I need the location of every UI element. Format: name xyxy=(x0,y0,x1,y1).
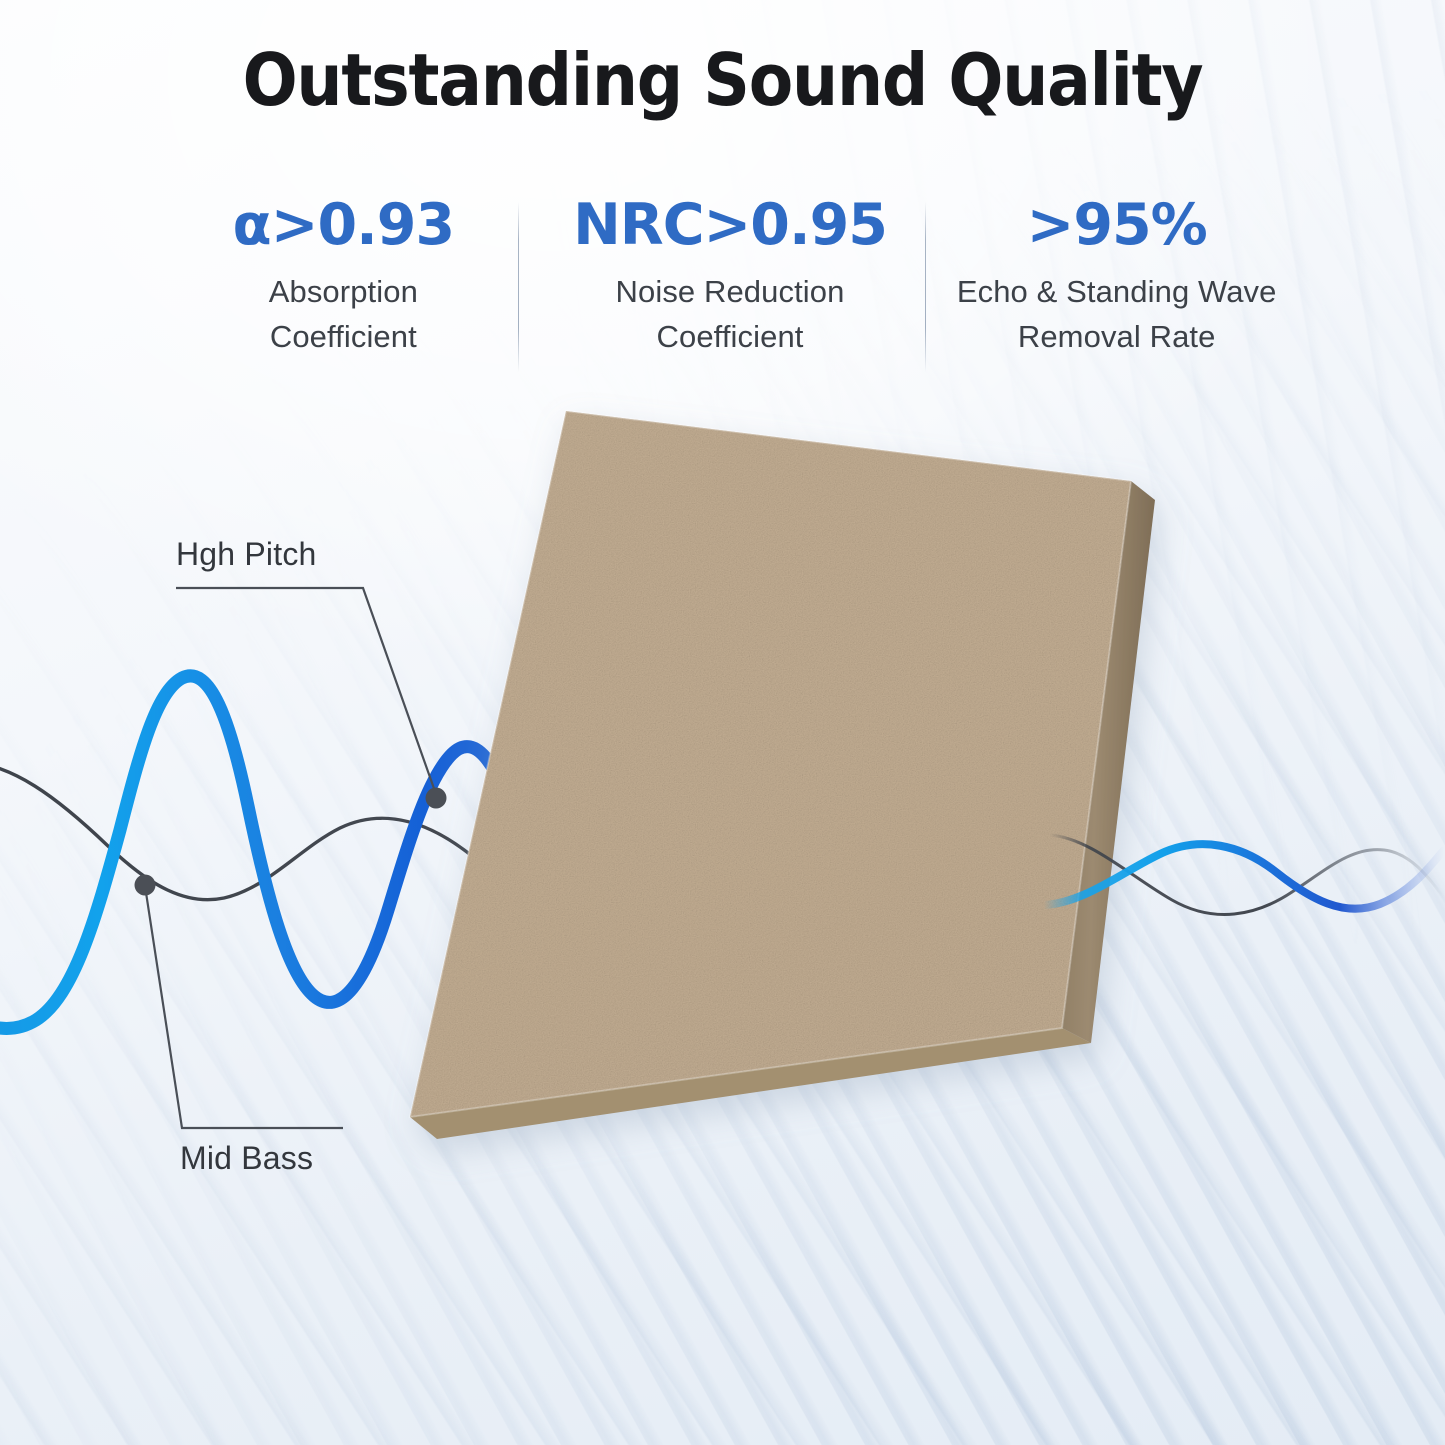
infographic-canvas: Outstanding Sound Quality α>0.93 Absorpt… xyxy=(0,0,1445,1445)
high-pitch-label: Hgh Pitch xyxy=(176,536,317,573)
mid-bass-marker-dot xyxy=(135,875,156,896)
panel-texture-overlay xyxy=(410,411,1131,1117)
mid-bass-label: Mid Bass xyxy=(180,1140,313,1177)
sound-wave-diagram xyxy=(0,0,1445,1445)
acoustic-felt-panel xyxy=(410,411,1155,1139)
high-pitch-marker-dot xyxy=(426,788,447,809)
